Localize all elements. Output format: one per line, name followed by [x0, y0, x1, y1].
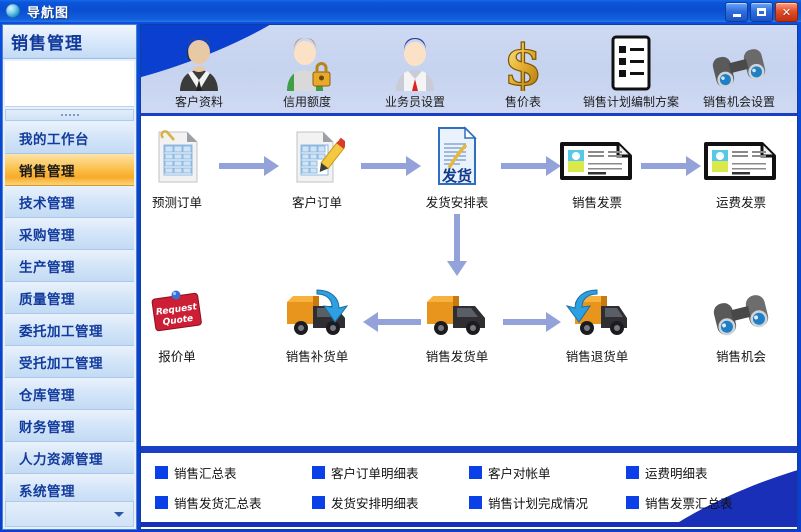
globe-icon — [6, 4, 20, 18]
sidebar-item-5[interactable]: 质量管理 — [5, 282, 134, 314]
svg-text:发货: 发货 — [441, 167, 472, 185]
report-link-label: 发货安排明细表 — [331, 493, 419, 512]
sidebar: 销售管理 我的工作台 销售管理 技术管理 采购管理 生产管理 质量管理 委托加工… — [2, 24, 137, 530]
sidebar-item-9[interactable]: 财务管理 — [5, 410, 134, 442]
sidebar-item-7[interactable]: 受托加工管理 — [5, 346, 134, 378]
request-quote-icon: Request Quote — [140, 278, 225, 340]
reports-section: 销售汇总表 客户订单明细表 客户对帐单 运费明细表 销售发货汇总表 发货安排明细… — [141, 453, 797, 527]
close-icon: ✕ — [782, 7, 791, 18]
sidebar-item-10[interactable]: 人力资源管理 — [5, 442, 134, 474]
flow-node-customer-order[interactable]: 客户订单 — [269, 124, 365, 211]
flow-node-label: 运费发票 — [693, 192, 789, 211]
sidebar-item-6[interactable]: 委托加工管理 — [5, 314, 134, 346]
freight-invoice-icon — [693, 124, 789, 186]
bullet-square-icon — [469, 466, 482, 479]
navigation-map-window: 导航图 ✕ 销售管理 我的工作台 销售管理 技术管理 采购管理 生产管理 质量管… — [0, 0, 801, 532]
sidebar-item-2[interactable]: 技术管理 — [5, 186, 134, 218]
sidebar-item-label: 财务管理 — [19, 416, 75, 436]
flow-node-label: 销售补货单 — [269, 346, 365, 365]
sidebar-item-label: 人力资源管理 — [19, 448, 103, 468]
flow-node-replenishment[interactable]: 销售补货单 — [269, 278, 365, 365]
reports-bottom-bar — [141, 522, 797, 527]
report-link-label: 客户对帐单 — [488, 463, 551, 482]
sidebar-item-11[interactable]: 系统管理 — [5, 474, 134, 501]
report-link-label: 销售计划完成情况 — [488, 493, 588, 512]
dollar-icon: $ — [499, 35, 547, 91]
toolbar-button-label: 销售计划编制方案 — [583, 93, 679, 110]
sidebar-item-0[interactable]: 我的工作台 — [5, 122, 134, 154]
toolbar-button-label: 信用额度 — [283, 93, 331, 110]
flow-node-label: 销售退货单 — [549, 346, 645, 365]
flow-node-label: 发货安排表 — [409, 192, 505, 211]
sidebar-item-label: 质量管理 — [19, 288, 75, 308]
report-link-5[interactable]: 发货安排明细表 — [312, 493, 469, 512]
sidebar-item-label: 生产管理 — [19, 256, 75, 276]
flow-arrow-down — [447, 214, 467, 276]
toolbar-button-label: 销售机会设置 — [703, 93, 775, 110]
sidebar-item-1[interactable]: 销售管理 — [5, 154, 134, 186]
report-link-label: 运费明细表 — [645, 463, 708, 482]
flow-arrow-4 — [641, 156, 701, 176]
flow-node-freight-invoice[interactable]: 运费发票 — [693, 124, 789, 211]
flow-node-delivery-order[interactable]: 销售发货单 — [409, 278, 505, 365]
report-link-label: 销售汇总表 — [174, 463, 237, 482]
sidebar-item-label: 采购管理 — [19, 224, 75, 244]
report-link-0[interactable]: 销售汇总表 — [155, 463, 312, 482]
sidebar-item-8[interactable]: 仓库管理 — [5, 378, 134, 410]
sales-invoice-icon — [549, 124, 645, 186]
sidebar-header-label: 销售管理 — [11, 29, 83, 54]
toolbar-button-label: 业务员设置 — [385, 93, 445, 110]
toolbar-button-label: 客户资料 — [175, 93, 223, 110]
bullet-square-icon — [312, 466, 325, 479]
flow-node-quotation[interactable]: Request Quote 报价单 — [140, 278, 225, 365]
flow-node-label: 销售发票 — [549, 192, 645, 211]
customer-order-icon — [269, 124, 365, 186]
flow-node-label: 预测订单 — [140, 192, 225, 211]
sidebar-blank-panel — [5, 61, 134, 107]
flow-node-label: 报价单 — [140, 346, 225, 365]
toolbar-button-sales-plan-scheme[interactable]: 销售计划编制方案 — [577, 35, 685, 110]
report-link-7[interactable]: 销售发票汇总表 — [626, 493, 783, 512]
bullet-square-icon — [312, 496, 325, 509]
window-controls: ✕ — [725, 2, 798, 22]
shipping-schedule-icon: 发货 — [409, 124, 505, 186]
user-lock-icon — [280, 35, 334, 91]
flow-node-sales-opportunity[interactable]: 销售机会 — [693, 278, 789, 365]
section-divider — [141, 446, 797, 453]
sidebar-item-label: 系统管理 — [19, 480, 75, 500]
report-link-1[interactable]: 客户订单明细表 — [312, 463, 469, 482]
replenish-truck-icon — [269, 278, 365, 340]
maximize-icon — [757, 8, 766, 16]
return-truck-icon — [549, 278, 645, 340]
bullet-square-icon — [155, 496, 168, 509]
splitter-dot — [69, 114, 71, 116]
main-panel: 客户资料 信用额度 — [140, 24, 798, 530]
sidebar-menu-list: 我的工作台 销售管理 技术管理 采购管理 生产管理 质量管理 委托加工管理 受托… — [5, 122, 134, 501]
toolbar-button-price-list[interactable]: $ 售价表 — [469, 35, 577, 110]
flow-node-label: 销售机会 — [693, 346, 789, 365]
report-link-label: 销售发票汇总表 — [645, 493, 733, 512]
window-title: 导航图 — [27, 2, 69, 21]
sidebar-header: 销售管理 — [3, 25, 136, 59]
close-button[interactable]: ✕ — [775, 2, 798, 22]
delivery-truck-icon — [409, 278, 505, 340]
flow-node-sales-invoice[interactable]: 销售发票 — [549, 124, 645, 211]
flow-diagram: 预测订单 — [141, 116, 797, 446]
businessman-icon — [172, 35, 226, 91]
flow-node-label: 客户订单 — [269, 192, 365, 211]
checklist-icon — [608, 35, 654, 91]
sidebar-item-label: 销售管理 — [19, 160, 75, 180]
flow-node-forecast-order[interactable]: 预测订单 — [140, 124, 225, 211]
salesman-icon — [388, 35, 442, 91]
bullet-square-icon — [626, 496, 639, 509]
toolbar-button-credit-limit[interactable]: 信用额度 — [253, 35, 361, 110]
toolbar-button-salesman-settings[interactable]: 业务员设置 — [361, 35, 469, 110]
report-link-3[interactable]: 运费明细表 — [626, 463, 783, 482]
minimize-icon — [733, 14, 741, 17]
toolbar-button-sales-opportunity-settings[interactable]: 销售机会设置 — [685, 35, 793, 110]
forecast-order-icon — [140, 124, 225, 186]
title-bar: 导航图 ✕ — [0, 0, 801, 22]
splitter-dot — [77, 114, 79, 116]
splitter-dot — [61, 114, 63, 116]
sidebar-item-label: 我的工作台 — [19, 128, 89, 148]
sidebar-item-4[interactable]: 生产管理 — [5, 250, 134, 282]
bullet-square-icon — [626, 466, 639, 479]
report-link-6[interactable]: 销售计划完成情况 — [469, 493, 626, 512]
binoculars-icon — [693, 278, 789, 340]
flow-node-label: 销售发货单 — [409, 346, 505, 365]
flow-node-return-order[interactable]: 销售退货单 — [549, 278, 645, 365]
bullet-square-icon — [155, 466, 168, 479]
toolbar-button-customer-data[interactable]: 客户资料 — [145, 35, 253, 110]
top-toolbar: 客户资料 信用额度 — [141, 25, 797, 116]
svg-text:$: $ — [504, 35, 543, 91]
minimize-button[interactable] — [725, 2, 748, 22]
toolbar-button-label: 售价表 — [505, 93, 541, 110]
sidebar-scroll-down[interactable] — [5, 501, 134, 527]
sidebar-splitter[interactable] — [5, 109, 134, 121]
report-link-label: 客户订单明细表 — [331, 463, 419, 482]
splitter-dot — [73, 114, 75, 116]
sidebar-item-label: 技术管理 — [19, 192, 75, 212]
sidebar-item-label: 委托加工管理 — [19, 320, 103, 340]
flow-node-shipping-schedule[interactable]: 发货 发货安排表 — [409, 124, 505, 211]
report-link-4[interactable]: 销售发货汇总表 — [155, 493, 312, 512]
report-link-2[interactable]: 客户对帐单 — [469, 463, 626, 482]
sidebar-item-3[interactable]: 采购管理 — [5, 218, 134, 250]
sidebar-item-label: 仓库管理 — [19, 384, 75, 404]
report-link-label: 销售发货汇总表 — [174, 493, 262, 512]
bullet-square-icon — [469, 496, 482, 509]
binoculars-icon — [710, 35, 768, 91]
sidebar-item-label: 受托加工管理 — [19, 352, 103, 372]
maximize-button[interactable] — [750, 2, 773, 22]
splitter-dot — [65, 114, 67, 116]
chevron-down-icon — [114, 512, 124, 517]
